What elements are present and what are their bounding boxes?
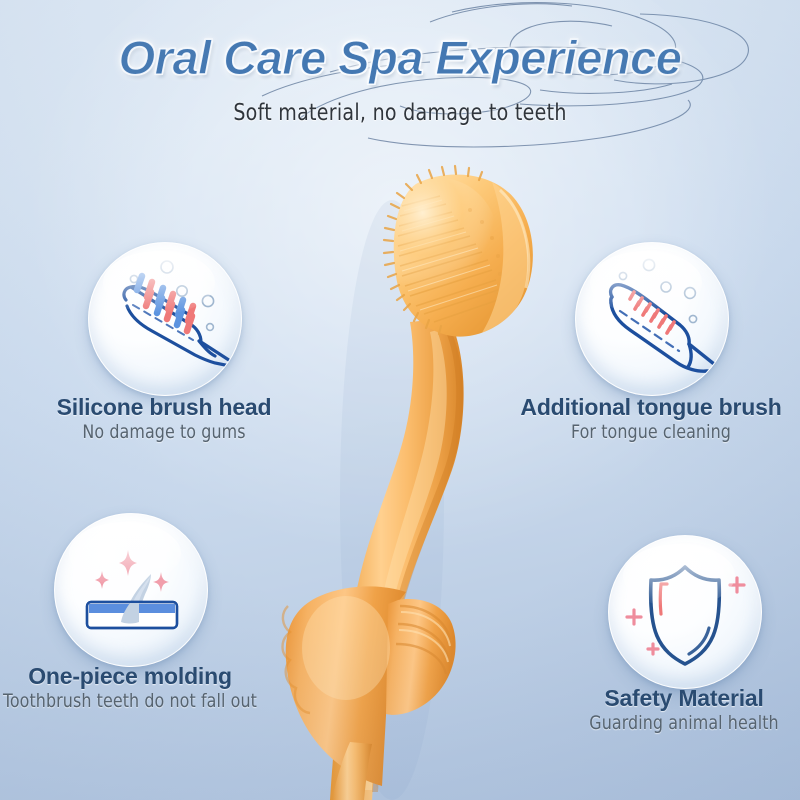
product-infographic: Oral Care Spa Experience Soft material, …: [0, 0, 800, 800]
feature-text: Silicone brush head No damage to gums: [28, 394, 300, 443]
feature-icon-bubble: [575, 242, 729, 396]
feature-subtitle: No damage to gums: [38, 421, 291, 443]
feature-icon-bubble: [54, 513, 208, 667]
page-title: Oral Care Spa Experience: [0, 30, 800, 85]
feature-subtitle: Toothbrush teeth do not fall out: [0, 690, 266, 712]
shield-icon: [609, 536, 761, 688]
feature-safety-material[interactable]: Safety Material Guarding animal health: [608, 535, 762, 689]
page-subtitle: Soft material, no damage to teeth: [32, 100, 768, 126]
one-piece-mold-icon: [55, 514, 207, 666]
feature-title: Additional tongue brush: [495, 394, 800, 421]
feature-text: Additional tongue brush For tongue clean…: [495, 394, 800, 443]
feature-icon-bubble: [88, 242, 242, 396]
feature-subtitle: Guarding animal health: [546, 712, 800, 734]
feature-title: Silicone brush head: [28, 394, 300, 421]
feature-text: Safety Material Guarding animal health: [536, 685, 800, 734]
feature-subtitle: For tongue cleaning: [506, 421, 796, 443]
feature-title: Safety Material: [536, 685, 800, 712]
feature-one-piece-molding[interactable]: One-piece molding Toothbrush teeth do no…: [54, 513, 208, 667]
tongue-brush-icon: [576, 243, 728, 395]
header: Oral Care Spa Experience Soft material, …: [0, 0, 800, 150]
feature-title: One-piece molding: [0, 663, 276, 690]
feature-icon-bubble: [608, 535, 762, 689]
toothbrush-head-icon: [89, 243, 241, 395]
feature-additional-tongue-brush[interactable]: Additional tongue brush For tongue clean…: [575, 242, 729, 396]
feature-silicone-brush-head[interactable]: Silicone brush head No damage to gums: [88, 242, 242, 396]
feature-text: One-piece molding Toothbrush teeth do no…: [0, 663, 276, 712]
